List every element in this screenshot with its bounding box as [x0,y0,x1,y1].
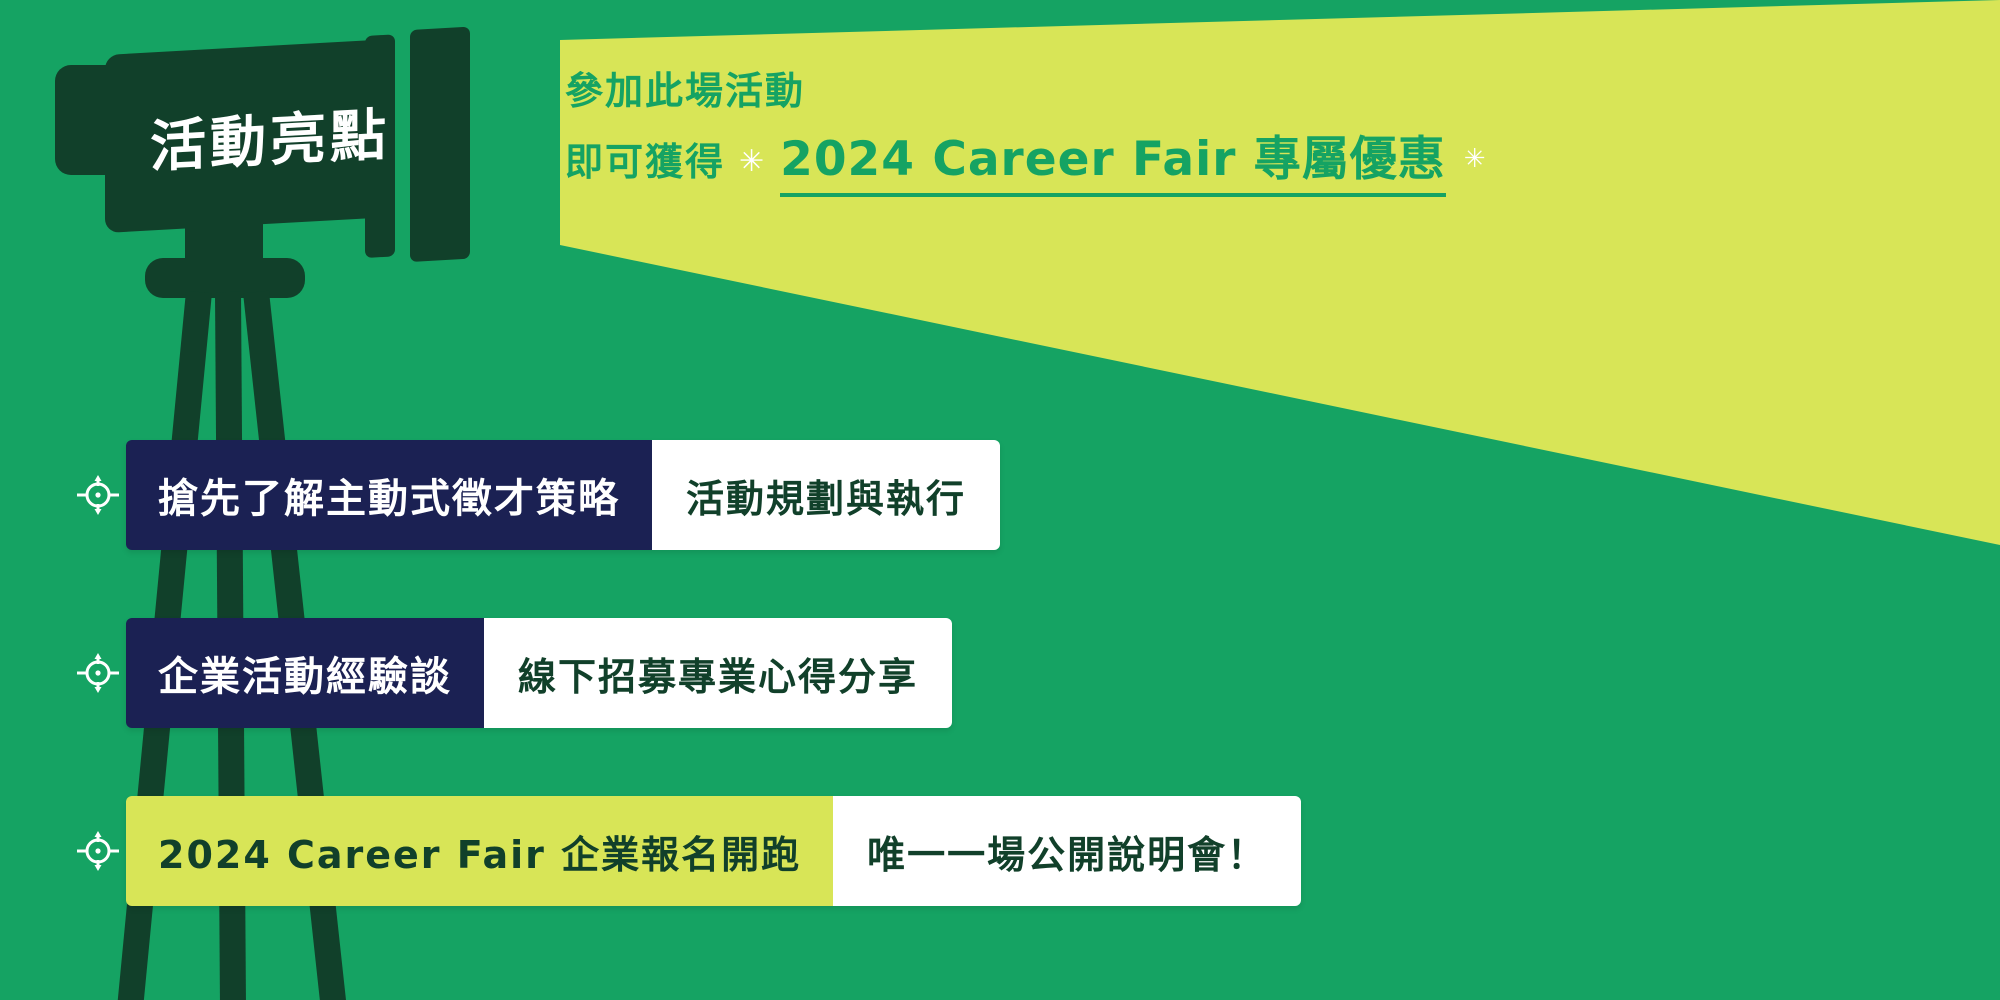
feature-row: 2024 Career Fair 企業報名開跑 唯一一場公開說明會！ [70,796,1301,906]
feature-label: 企業活動經驗談 [126,618,484,728]
event-highlights-banner: 活動亮點 參加此場活動 即可獲得 ✳ 2024 Career Fair 專屬優惠… [0,0,2000,1000]
feature-pill[interactable]: 企業活動經驗談 線下招募專業心得分享 [126,618,952,728]
feature-list: 搶先了解主動式徵才策略 活動規劃與執行 企業活動經驗談 線下招 [0,0,2000,1000]
feature-row: 企業活動經驗談 線下招募專業心得分享 [70,618,952,728]
crosshair-icon [70,796,126,906]
feature-pill[interactable]: 2024 Career Fair 企業報名開跑 唯一一場公開說明會！ [126,796,1301,906]
crosshair-icon [70,618,126,728]
crosshair-icon [70,440,126,550]
feature-detail: 唯一一場公開說明會！ [833,796,1301,906]
feature-label: 2024 Career Fair 企業報名開跑 [126,796,833,906]
feature-label: 搶先了解主動式徵才策略 [126,440,652,550]
feature-pill[interactable]: 搶先了解主動式徵才策略 活動規劃與執行 [126,440,1000,550]
feature-detail: 線下招募專業心得分享 [484,618,952,728]
feature-detail: 活動規劃與執行 [652,440,1000,550]
feature-row: 搶先了解主動式徵才策略 活動規劃與執行 [70,440,1000,550]
